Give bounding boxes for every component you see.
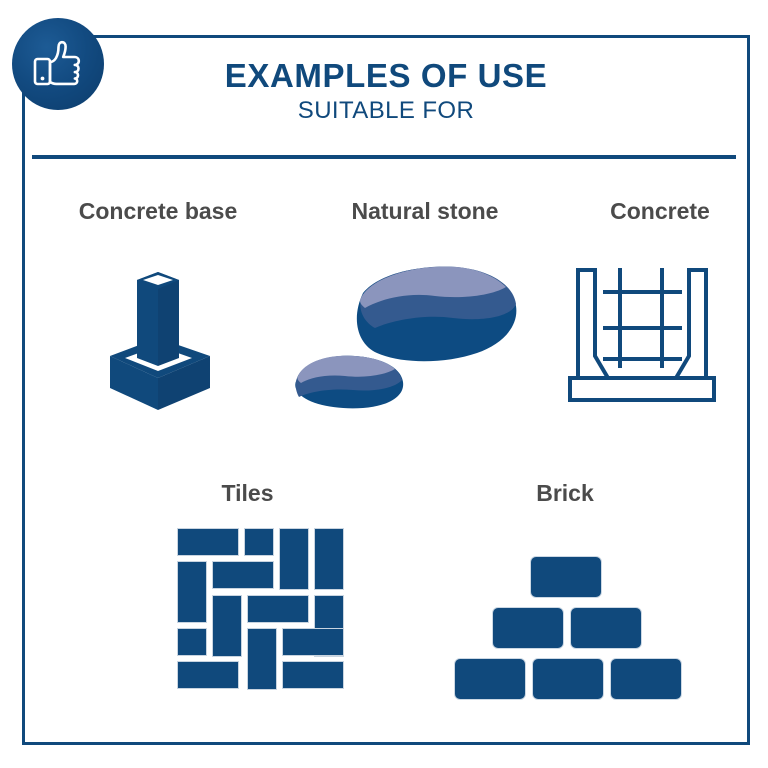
thumbs-up-badge <box>12 18 104 110</box>
brick <box>610 658 682 700</box>
label-concrete: Concrete <box>570 198 750 225</box>
tile <box>244 528 274 556</box>
tile <box>177 528 239 556</box>
title-divider <box>32 155 736 159</box>
tile <box>279 528 309 590</box>
tile <box>212 561 274 589</box>
tile <box>177 628 207 656</box>
basketweave-tiles-icon <box>177 528 347 706</box>
tile <box>282 628 344 656</box>
tile <box>177 661 239 689</box>
title-block: EXAMPLES OF USE SUITABLE FOR <box>22 56 750 126</box>
tile <box>282 661 344 689</box>
infographic-page: EXAMPLES OF USE SUITABLE FOR Concrete ba… <box>0 0 768 768</box>
label-tiles: Tiles <box>180 480 315 507</box>
brick <box>530 556 602 598</box>
brick <box>570 607 642 649</box>
page-title: EXAMPLES OF USE <box>22 56 750 96</box>
tile <box>247 628 277 690</box>
stones-icon <box>285 258 525 418</box>
tile <box>177 561 207 623</box>
concrete-pedestal-icon <box>100 258 220 423</box>
label-natural-stone: Natural stone <box>305 198 545 225</box>
brick <box>492 607 564 649</box>
tile <box>247 595 309 623</box>
brick <box>454 658 526 700</box>
tile <box>314 528 344 590</box>
page-subtitle: SUITABLE FOR <box>22 96 750 126</box>
rebar-formwork-icon <box>562 256 722 406</box>
label-concrete-base: Concrete base <box>38 198 278 225</box>
label-brick: Brick <box>490 480 640 507</box>
tile <box>212 595 242 657</box>
brick-stack-icon <box>452 556 682 706</box>
thumbs-up-icon <box>28 34 88 94</box>
brick <box>532 658 604 700</box>
